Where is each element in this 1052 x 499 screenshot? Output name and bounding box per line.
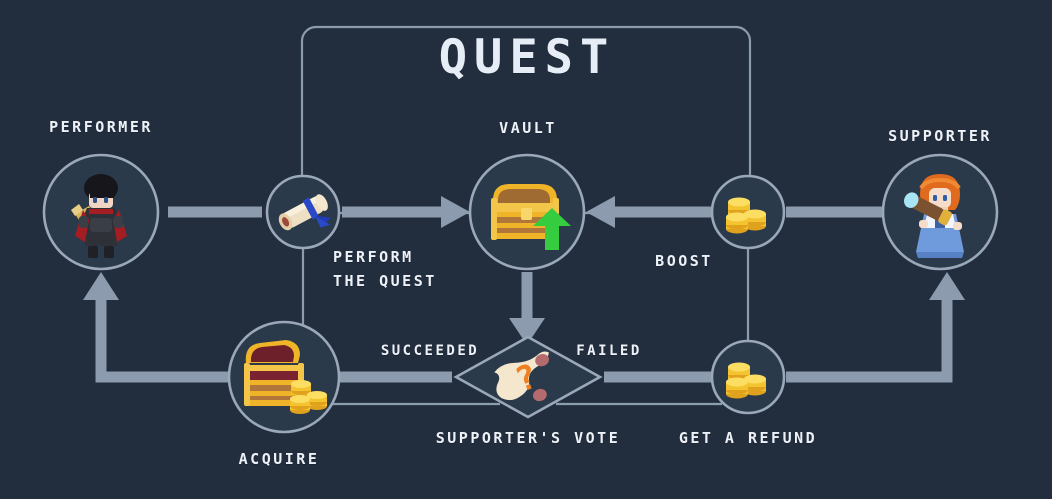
page-title: QUEST [439,30,615,85]
node-label-performer: PERFORMER [49,118,153,136]
node-label-acquire: ACQUIRE [239,450,320,468]
node-label-get-a-refund: GET A REFUND [679,429,817,447]
arrow-boost-to-vault [586,196,712,228]
edge-label-succeeded: SUCCEEDED [381,343,479,359]
arrow-perform-to-vault [342,196,470,228]
node-label-supporters-vote: SUPPORTER'S VOTE [436,429,621,447]
quest-flow-diagram: ? QUEST PERFORMER PERFORM THE QUEST VAUL… [0,0,1052,499]
node-label-perform-line1: PERFORM [333,248,414,266]
node-label-perform-line2: THE QUEST [333,272,437,290]
edge-label-failed: FAILED [576,343,642,359]
arrow-acquire-to-performer [83,272,230,377]
node-label-boost: BOOST [655,252,713,270]
node-label-vault: VAULT [499,119,557,137]
arrow-refund-to-supporter [786,272,965,377]
arrow-vault-to-vote [509,272,545,345]
node-label-supporter: SUPPORTER [888,127,992,145]
